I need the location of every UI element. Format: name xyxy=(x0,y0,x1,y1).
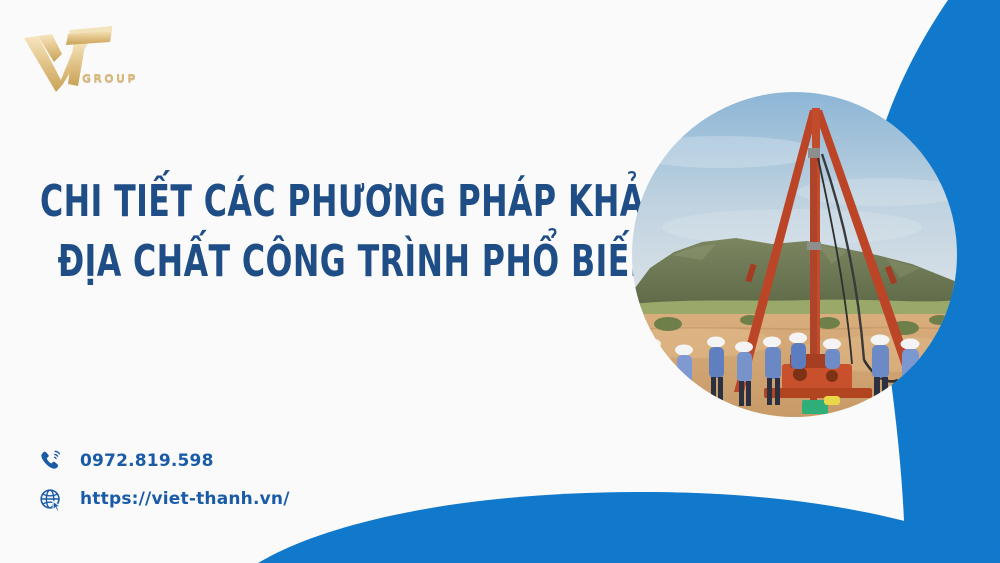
promo-banner: GROUP CHI TIẾT CÁC PHƯƠNG PHÁP KHẢO SÁT … xyxy=(0,0,1000,563)
vt-monogram-icon xyxy=(16,18,142,98)
globe-cursor-icon xyxy=(36,484,66,514)
phone-number: 0972.819.598 xyxy=(80,451,214,471)
contact-block: 0972.819.598 https://viet-thanh.vn/ xyxy=(36,442,290,518)
page-title: CHI TIẾT CÁC PHƯƠNG PHÁP KHẢO SÁT ĐỊA CH… xyxy=(40,172,660,292)
logo-wordmark: GROUP xyxy=(82,72,138,85)
hero-photo xyxy=(632,92,957,417)
website-url: https://viet-thanh.vn/ xyxy=(80,489,290,509)
headline-line-1: CHI TIẾT CÁC PHƯƠNG PHÁP KHẢO SÁT xyxy=(40,172,536,232)
contact-row-website[interactable]: https://viet-thanh.vn/ xyxy=(36,480,290,518)
drilling-rig-photo xyxy=(632,92,957,417)
brand-logo[interactable]: GROUP xyxy=(16,18,142,98)
headline-line-2: ĐỊA CHẤT CÔNG TRÌNH PHỔ BIẾN NHẤT xyxy=(58,232,554,292)
contact-row-phone[interactable]: 0972.819.598 xyxy=(36,442,290,480)
phone-ringing-icon xyxy=(36,446,66,476)
